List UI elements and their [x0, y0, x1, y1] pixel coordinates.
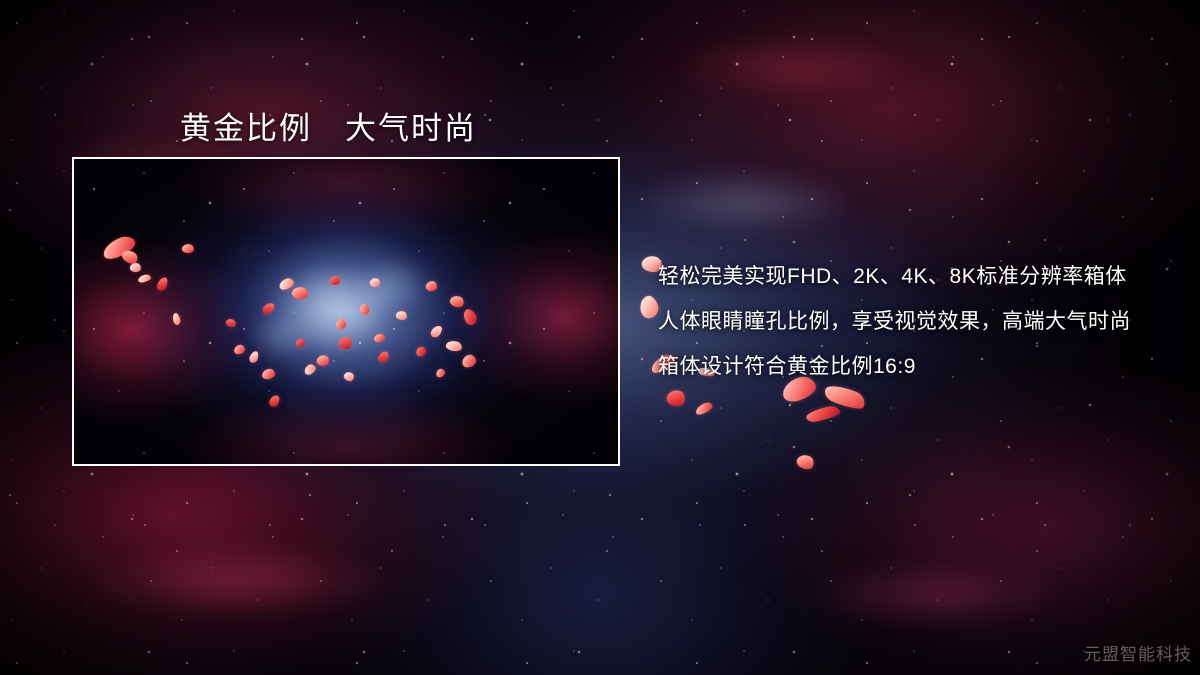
page-title: 黄金比例 大气时尚: [180, 103, 477, 148]
body-line: 人体眼睛瞳孔比例，享受视觉效果，高端大气时尚: [658, 299, 1178, 344]
petal: [694, 401, 714, 417]
body-line: 箱体设计符合黄金比例16:9: [658, 344, 1178, 389]
watermark: 元盟智能科技: [1084, 640, 1192, 665]
slide-root: 黄金比例 大气时尚 轻松完美实现FHD、2K、4K、8K标准分辨率箱体 人体眼睛…: [0, 0, 1200, 675]
petal: [795, 452, 817, 472]
petal: [665, 387, 687, 408]
body-text-block: 轻松完美实现FHD、2K、4K、8K标准分辨率箱体 人体眼睛瞳孔比例，享受视觉效…: [658, 254, 1178, 389]
body-line: 轻松完美实现FHD、2K、4K、8K标准分辨率箱体: [658, 254, 1178, 299]
petal: [296, 339, 305, 347]
panel-starfield: [74, 159, 618, 464]
image-frame: [72, 157, 620, 466]
petal: [805, 405, 841, 424]
